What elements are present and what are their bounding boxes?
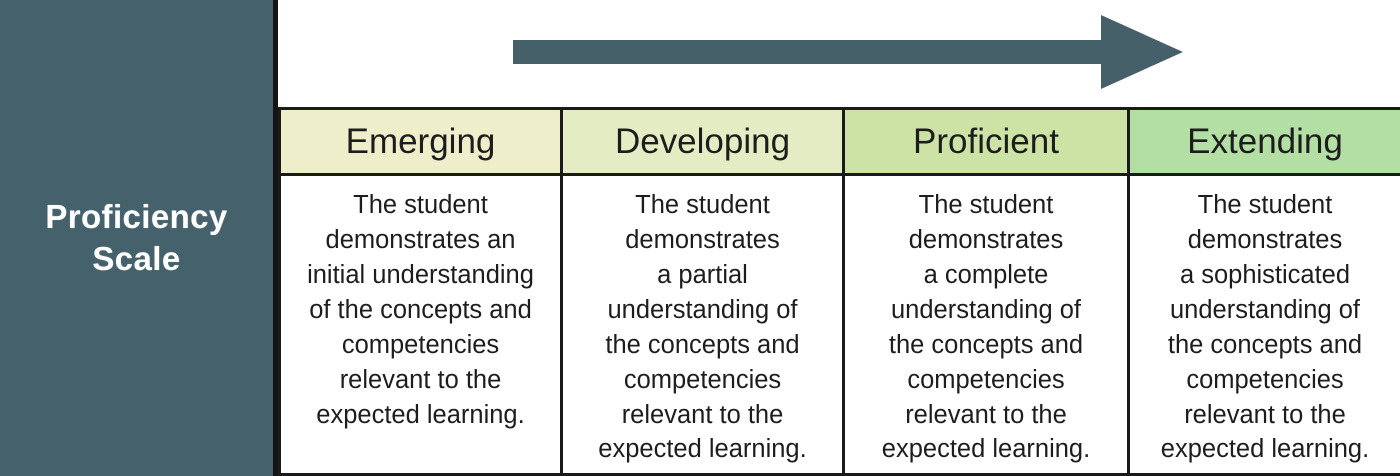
- column-header-extending[interactable]: Extending: [1129, 109, 1400, 175]
- column-header-label: Developing: [615, 122, 790, 161]
- description-text: The student demonstrates a partial under…: [571, 188, 834, 467]
- description-cell-emerging: The student demonstrates an initial unde…: [280, 175, 562, 475]
- description-cell-developing: The student demonstrates a partial under…: [562, 175, 844, 475]
- progression-arrow-zone: [278, 0, 1400, 107]
- description-text: The student demonstrates a complete unde…: [853, 188, 1119, 467]
- table-header-row: Emerging Developing Proficient Extending: [280, 109, 1400, 175]
- description-text: The student demonstrates an initial unde…: [289, 188, 552, 432]
- column-header-proficient[interactable]: Proficient: [844, 109, 1129, 175]
- table-row: The student demonstrates an initial unde…: [280, 175, 1400, 475]
- proficiency-scale-table: Emerging Developing Proficient Extending…: [278, 107, 1400, 476]
- column-header-emerging[interactable]: Emerging: [280, 109, 562, 175]
- description-cell-extending: The student demonstrates a sophisticated…: [1129, 175, 1400, 475]
- right-arrow-icon: [513, 12, 1183, 92]
- description-cell-proficient: The student demonstrates a complete unde…: [844, 175, 1129, 475]
- page-title: Proficiency Scale: [17, 196, 257, 280]
- column-header-label: Extending: [1187, 122, 1343, 161]
- column-header-label: Emerging: [346, 122, 496, 161]
- description-text: The student demonstrates a sophisticated…: [1138, 188, 1392, 467]
- proficiency-scale-side-panel: Proficiency Scale: [0, 0, 273, 476]
- proficiency-scale-figure: Proficiency Scale Emerging Developing Pr…: [0, 0, 1400, 476]
- column-header-label: Proficient: [913, 122, 1059, 161]
- column-header-developing[interactable]: Developing: [562, 109, 844, 175]
